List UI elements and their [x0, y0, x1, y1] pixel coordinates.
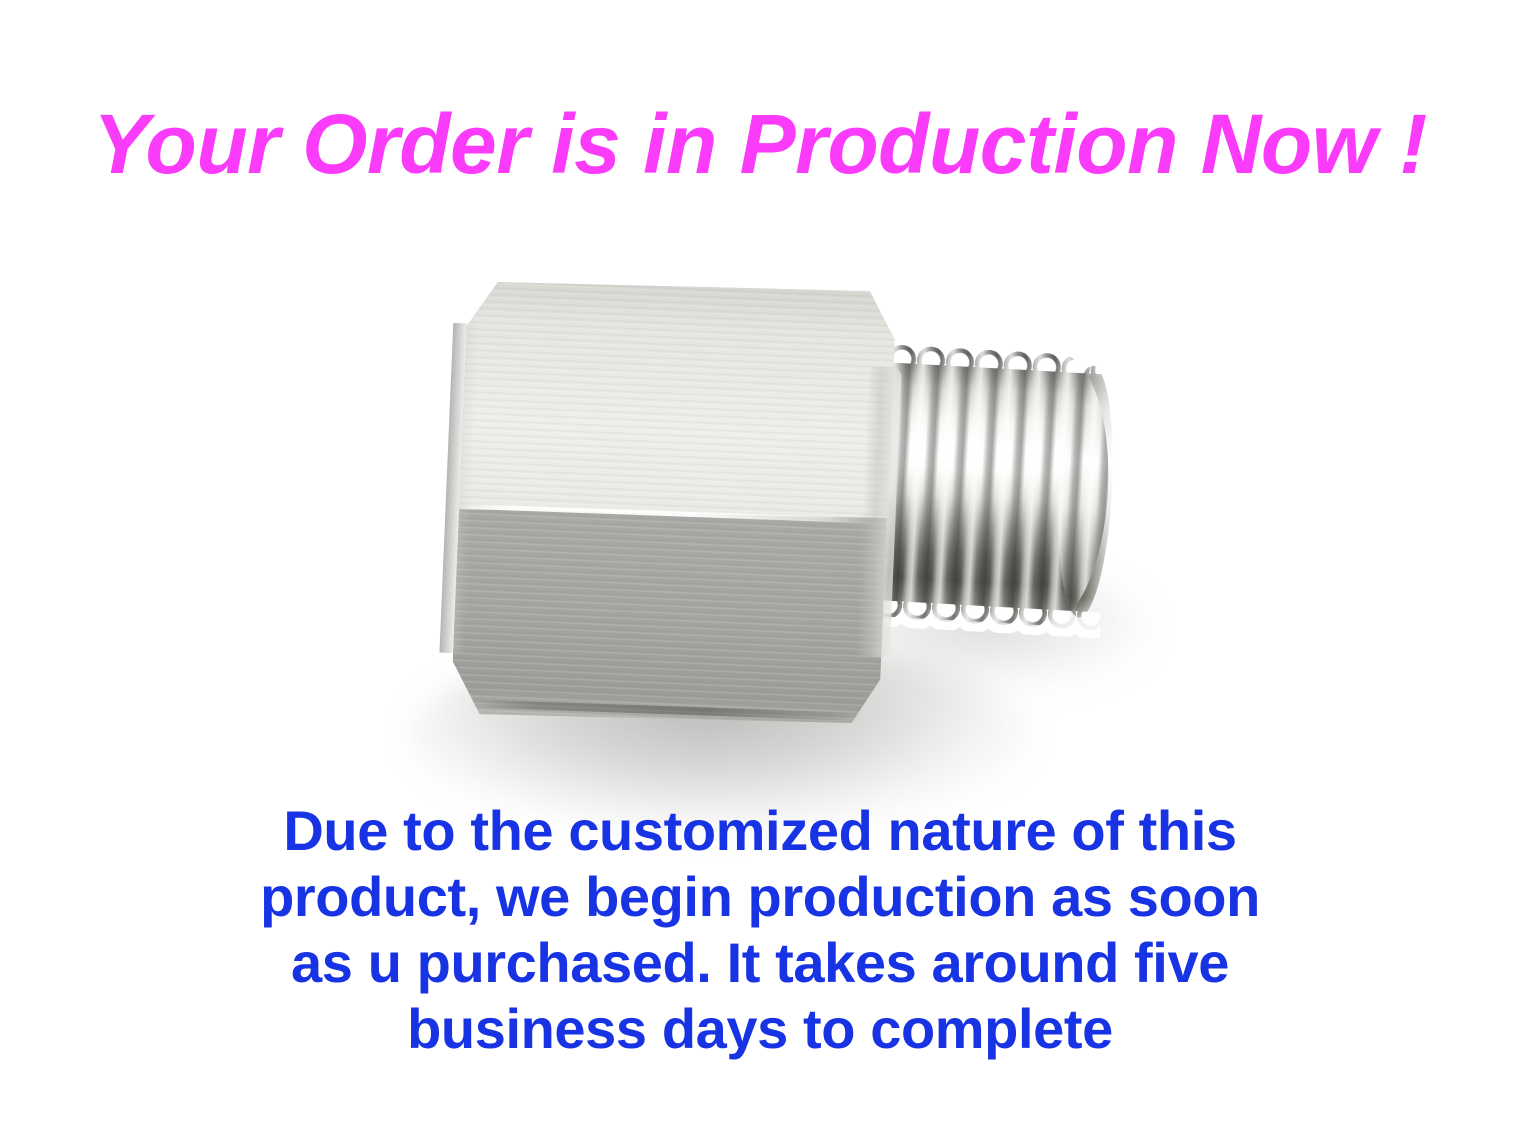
promo-image-canvas: Your Order is in Production Now ! Due	[0, 0, 1520, 1140]
body-copy-line-2: product, we begin production as soon	[0, 864, 1520, 930]
hex-brushed-texture	[435, 267, 901, 733]
hex-body	[422, 256, 911, 745]
body-copy-line-3: as u purchased. It takes around five	[0, 930, 1520, 996]
headline-text: Your Order is in Production Now !	[0, 96, 1520, 192]
product-photo	[380, 240, 1180, 800]
body-copy: Due to the customized nature of this pro…	[0, 798, 1520, 1062]
body-copy-line-4: business days to complete	[0, 996, 1520, 1062]
body-copy-line-1: Due to the customized nature of this	[0, 798, 1520, 864]
